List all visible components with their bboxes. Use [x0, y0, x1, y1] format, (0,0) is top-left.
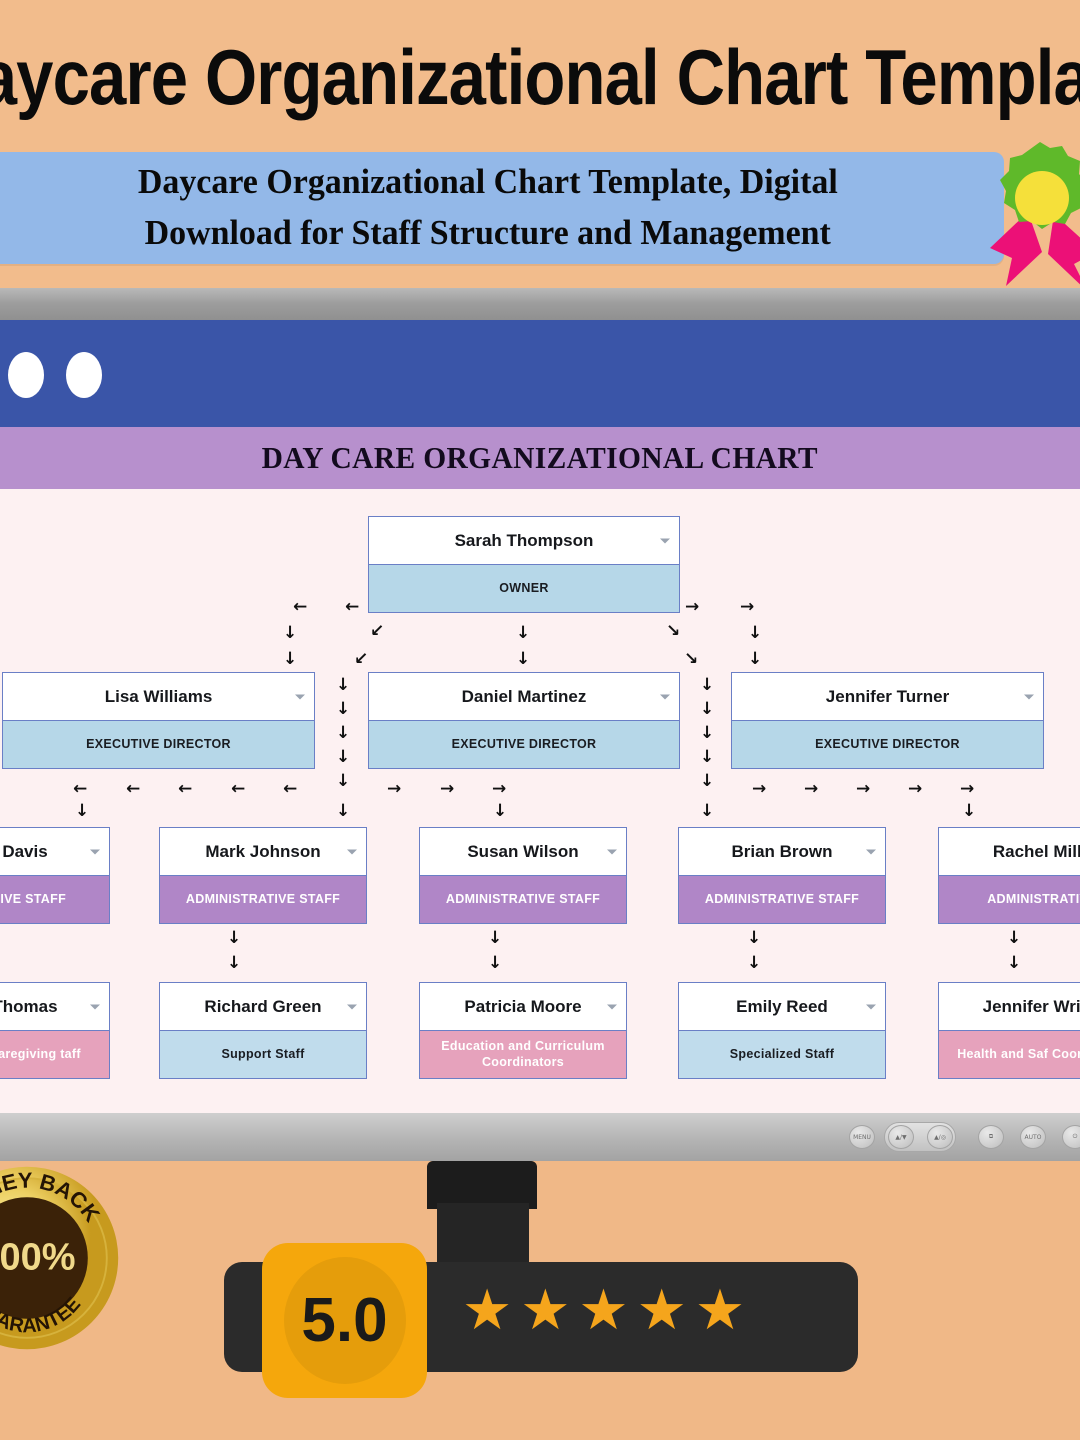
input-button-label: ▲/◎ [934, 1134, 946, 1141]
org-card-role: ATIVE STAFF [0, 875, 109, 923]
org-card-admin-4[interactable]: Brian Brown ADMINISTRATIVE STAFF [678, 827, 886, 924]
org-card-exec-3[interactable]: Jennifer Turner EXECUTIVE DIRECTOR [731, 672, 1044, 769]
subtitle-line-2: Download for Staff Structure and Managem… [145, 208, 831, 259]
power-button-label: ⏻ [1073, 1133, 1078, 1141]
connector-down-arrow: ↓ [700, 749, 714, 766]
org-card-name[interactable]: Emily Reed [679, 983, 885, 1030]
org-card-admin-5[interactable]: Rachel Mille ADMINISTRATIVE [938, 827, 1080, 924]
org-card-admin-3[interactable]: Susan Wilson ADMINISTRATIVE STAFF [419, 827, 627, 924]
connector-left-arrow: ← [231, 781, 245, 798]
connector-down-arrow: ↓ [516, 651, 530, 668]
menu-button[interactable]: MENU [849, 1125, 875, 1149]
connector-down-arrow: ↓ [1007, 955, 1021, 972]
org-card-name[interactable]: Daniel Martinez [369, 673, 679, 720]
connector-down-arrow: ↓ [227, 955, 241, 972]
org-card-name-text: Davis [2, 842, 47, 862]
org-card-name-text: Brian Brown [731, 842, 832, 862]
connector-down-arrow: ↓ [700, 701, 714, 718]
connector-right-arrow: → [908, 781, 922, 798]
connector-left-arrow: ← [178, 781, 192, 798]
org-card-name[interactable]: Jennifer Wrigh [939, 983, 1080, 1030]
connector-right-arrow: → [740, 599, 754, 616]
connector-down-arrow: ↓ [283, 625, 297, 642]
chevron-down-icon[interactable] [866, 1004, 876, 1009]
connector-left-arrow: ← [283, 781, 297, 798]
display-button-label: ⧉ [989, 1133, 993, 1141]
org-card-name[interactable]: Brian Brown [679, 828, 885, 875]
award-rosette-icon [970, 140, 1080, 290]
connector-down-arrow: ↓ [748, 625, 762, 642]
org-card-name-text: Mark Johnson [205, 842, 320, 862]
org-card-name[interactable]: Rachel Mille [939, 828, 1080, 875]
connector-down-arrow: ↓ [336, 701, 350, 718]
org-card-name[interactable]: Mark Johnson [160, 828, 366, 875]
org-card-role: EXECUTIVE DIRECTOR [732, 720, 1043, 768]
star-icon: ★ [462, 1283, 512, 1339]
display-button[interactable]: ⧉ [978, 1125, 1004, 1149]
connector-down-arrow: ↓ [336, 773, 350, 790]
org-card-role: ADMINISTRATIVE STAFF [160, 875, 366, 923]
page-title: Daycare Organizational Chart Template [0, 38, 1080, 116]
connector-down-arrow: ↓ [283, 651, 297, 668]
connector-down-arrow: ↓ [516, 625, 530, 642]
connector-down-arrow: ↓ [227, 930, 241, 947]
promo-banner: Daycare Organizational Chart Template Da… [0, 0, 1080, 290]
connector-down-arrow: ↓ [962, 803, 976, 820]
rating-oval: 5.0 [284, 1257, 406, 1384]
org-card-bottom-3[interactable]: Patricia Moore Education and Curriculum … [419, 982, 627, 1079]
org-card-name[interactable]: Thomas [0, 983, 109, 1030]
monitor-stand-neck-top [427, 1161, 537, 1209]
org-card-bottom-2[interactable]: Richard Green Support Staff [159, 982, 367, 1079]
org-card-name[interactable]: Patricia Moore [420, 983, 626, 1030]
connector-down-arrow: ↓ [1007, 930, 1021, 947]
connector-down-left-arrow: ↙ [354, 651, 368, 668]
connector-down-right-arrow: ↘ [666, 623, 680, 640]
org-card-role: Support Staff [160, 1030, 366, 1078]
star-icon: ★ [637, 1283, 687, 1339]
chevron-down-icon[interactable] [660, 538, 670, 543]
org-card-name-text: Jennifer Wrigh [983, 997, 1080, 1017]
chevron-down-icon[interactable] [90, 1004, 100, 1009]
auto-button-label: AUTO [1025, 1134, 1042, 1141]
connector-left-arrow: ← [126, 781, 140, 798]
updown-button[interactable]: ▲/▼ [888, 1125, 914, 1149]
org-card-role: ADMINISTRATIVE STAFF [420, 875, 626, 923]
connector-down-arrow: ↓ [700, 773, 714, 790]
org-card-name[interactable]: Davis [0, 828, 109, 875]
org-card-role: ADMINISTRATIVE STAFF [679, 875, 885, 923]
star-icon: ★ [695, 1283, 745, 1339]
org-card-name[interactable]: Richard Green [160, 983, 366, 1030]
connector-down-arrow: ↓ [748, 651, 762, 668]
window-dot-1[interactable] [8, 352, 44, 398]
org-card-bottom-1[interactable]: Thomas nd Caregiving taff [0, 982, 110, 1079]
connector-down-arrow: ↓ [336, 749, 350, 766]
org-card-bottom-5[interactable]: Jennifer Wrigh Health and Saf Coordinato… [938, 982, 1080, 1079]
connector-right-arrow: → [804, 781, 818, 798]
org-card-name-text: Richard Green [204, 997, 321, 1017]
org-card-name-text: Lisa Williams [105, 687, 213, 707]
money-back-guarantee-badge: 100% MONEY BACK GUARANTEE [0, 1163, 122, 1353]
connector-left-arrow: ← [345, 599, 359, 616]
connector-down-arrow: ↓ [336, 803, 350, 820]
connector-down-arrow: ↓ [700, 803, 714, 820]
window-dot-2[interactable] [66, 352, 102, 398]
connector-right-arrow: → [492, 781, 506, 798]
org-card-role: ADMINISTRATIVE [939, 875, 1080, 923]
input-button[interactable]: ▲/◎ [927, 1125, 953, 1149]
connector-down-arrow: ↓ [493, 803, 507, 820]
star-icon: ★ [520, 1283, 570, 1339]
menu-button-label: MENU [853, 1134, 871, 1141]
chevron-down-icon[interactable] [295, 694, 305, 699]
org-card-role: Education and Curriculum Coordinators [420, 1030, 626, 1078]
subtitle-line-1: Daycare Organizational Chart Template, D… [138, 157, 838, 208]
chevron-down-icon[interactable] [347, 849, 357, 854]
org-card-name-text: Thomas [0, 997, 58, 1017]
connector-right-arrow: → [387, 781, 401, 798]
connector-down-arrow: ↓ [700, 677, 714, 694]
org-card-role: OWNER [369, 564, 679, 612]
connector-right-arrow: → [685, 599, 699, 616]
rating-badge: 5.0 [262, 1243, 427, 1398]
org-card-name-text: Emily Reed [736, 997, 828, 1017]
org-card-role: nd Caregiving taff [0, 1030, 109, 1078]
connector-down-left-arrow: ↙ [370, 623, 384, 640]
auto-button[interactable]: AUTO [1020, 1125, 1046, 1149]
chevron-down-icon[interactable] [1024, 694, 1034, 699]
org-card-name-text: Patricia Moore [464, 997, 581, 1017]
connector-down-arrow: ↓ [336, 677, 350, 694]
org-card-role: Health and Saf Coordinator [939, 1030, 1080, 1078]
chart-title-band: DAY CARE ORGANIZATIONAL CHART [0, 427, 1080, 489]
chart-title: DAY CARE ORGANIZATIONAL CHART [262, 440, 818, 476]
org-card-name-text: Sarah Thompson [455, 531, 594, 551]
chevron-down-icon[interactable] [347, 1004, 357, 1009]
rating-value: 5.0 [301, 1285, 387, 1356]
chevron-down-icon[interactable] [866, 849, 876, 854]
star-rating: ★ ★ ★ ★ ★ [462, 1283, 745, 1339]
org-card-role: EXECUTIVE DIRECTOR [369, 720, 679, 768]
org-card-name[interactable]: Sarah Thompson [369, 517, 679, 564]
org-card-name-text: Daniel Martinez [462, 687, 587, 707]
connector-down-arrow: ↓ [336, 725, 350, 742]
connector-right-arrow: → [440, 781, 454, 798]
connector-down-arrow: ↓ [747, 955, 761, 972]
star-icon: ★ [578, 1283, 628, 1339]
connector-down-arrow: ↓ [488, 930, 502, 947]
monitor-top-bezel [0, 288, 1080, 322]
connector-left-arrow: ← [293, 599, 307, 616]
org-chart-canvas: Sarah Thompson OWNER ← ← → → ↓ ↓ ↙ ↙ ↓ ↓… [0, 489, 1080, 1113]
connector-down-arrow: ↓ [488, 955, 502, 972]
connector-down-right-arrow: ↘ [684, 651, 698, 668]
org-card-role: Specialized Staff [679, 1030, 885, 1078]
org-card-name-text: Rachel Mille [993, 842, 1080, 862]
chevron-down-icon[interactable] [607, 1004, 617, 1009]
org-card-name[interactable]: Lisa Williams [3, 673, 314, 720]
org-card-bottom-4[interactable]: Emily Reed Specialized Staff [678, 982, 886, 1079]
subtitle-banner: Daycare Organizational Chart Template, D… [0, 152, 1004, 264]
connector-down-arrow: ↓ [75, 803, 89, 820]
org-card-admin-1[interactable]: Davis ATIVE STAFF [0, 827, 110, 924]
connector-right-arrow: → [856, 781, 870, 798]
org-card-name[interactable]: Jennifer Turner [732, 673, 1043, 720]
org-card-role: EXECUTIVE DIRECTOR [3, 720, 314, 768]
org-card-admin-2[interactable]: Mark Johnson ADMINISTRATIVE STAFF [159, 827, 367, 924]
chevron-down-icon[interactable] [660, 694, 670, 699]
connector-right-arrow: → [960, 781, 974, 798]
chevron-down-icon[interactable] [90, 849, 100, 854]
org-card-exec-2[interactable]: Daniel Martinez EXECUTIVE DIRECTOR [368, 672, 680, 769]
connector-left-arrow: ← [73, 781, 87, 798]
connector-right-arrow: → [752, 781, 766, 798]
org-card-exec-1[interactable]: Lisa Williams EXECUTIVE DIRECTOR [2, 672, 315, 769]
connector-down-arrow: ↓ [747, 930, 761, 947]
money-back-percent: 100% [0, 1236, 76, 1278]
chevron-down-icon[interactable] [607, 849, 617, 854]
org-card-name-text: Susan Wilson [467, 842, 578, 862]
org-card-owner[interactable]: Sarah Thompson OWNER [368, 516, 680, 613]
window-titlebar [0, 320, 1080, 427]
updown-button-label: ▲/▼ [895, 1134, 906, 1141]
org-card-name[interactable]: Susan Wilson [420, 828, 626, 875]
org-card-name-text: Jennifer Turner [826, 687, 949, 707]
connector-down-arrow: ↓ [700, 725, 714, 742]
page-title-text: Daycare Organizational Chart Template [0, 38, 1080, 116]
